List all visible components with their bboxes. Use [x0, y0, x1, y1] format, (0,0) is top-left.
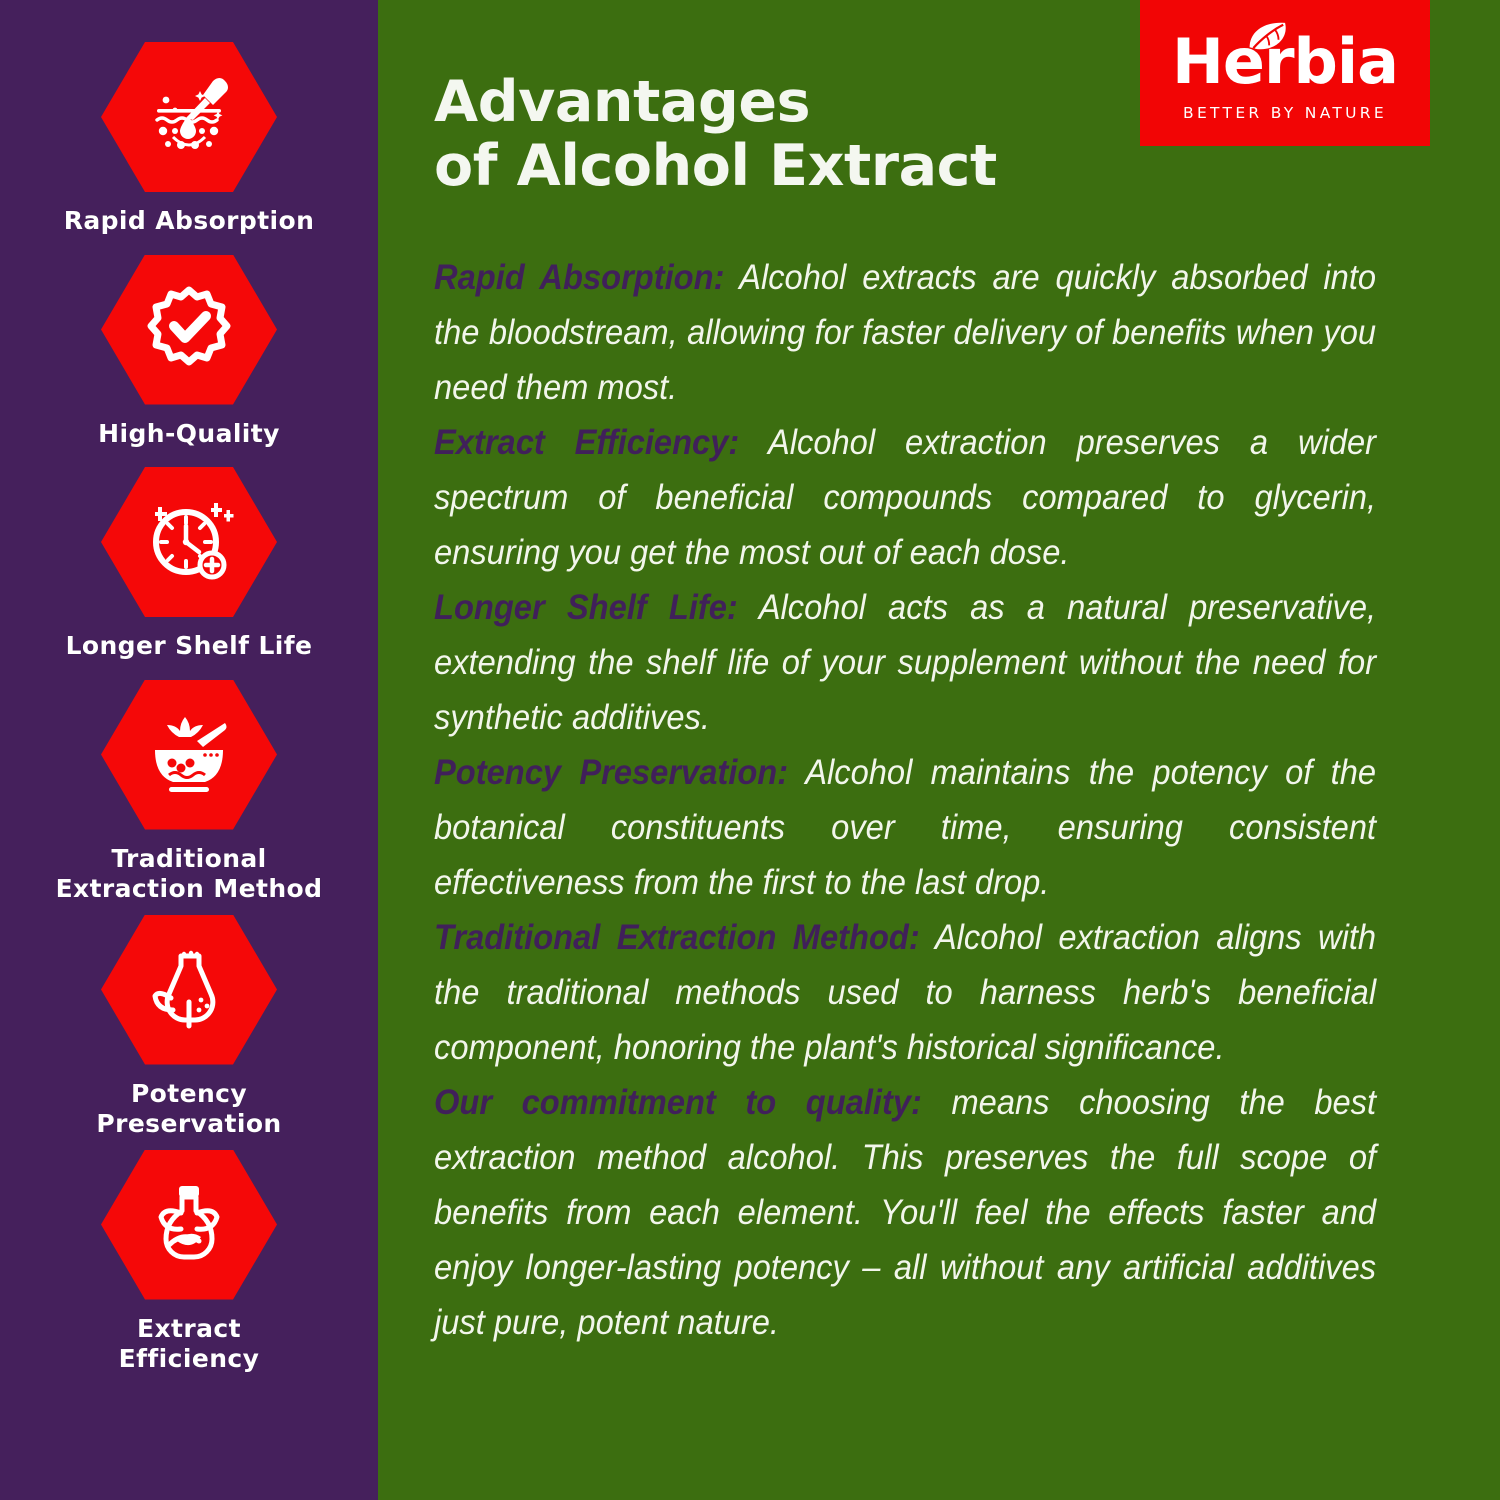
sidebar-item-label: ExtractEfficiency: [19, 1314, 359, 1375]
hexagon-badge: [101, 467, 277, 617]
paragraph-rapid-absorption: Rapid Absorption: Alcohol extracts are q…: [434, 250, 1376, 415]
hexagon-badge: [101, 680, 277, 830]
bottle-leaf-icon: [139, 1175, 239, 1275]
page-title: Advantages of Alcohol Extract: [434, 70, 997, 199]
clock-plus-icon: [139, 492, 239, 592]
paragraph-lead: Extract Efficiency:: [434, 422, 739, 462]
hexagon-badge: [101, 42, 277, 192]
paragraph-potency-preservation: Potency Preservation: Alcohol maintains …: [434, 745, 1376, 910]
mortar-pestle-herb-icon: [139, 705, 239, 805]
dropper-absorption-icon: [139, 67, 239, 167]
sidebar-item-high-quality: High-Quality: [0, 255, 378, 460]
sidebar-item-label: High-Quality: [19, 419, 359, 450]
leaf-icon: [1244, 19, 1300, 53]
sidebar-item-label: Rapid Absorption: [19, 206, 359, 237]
paragraph-longer-shelf-life: Longer Shelf Life: Alcohol acts as a nat…: [434, 580, 1376, 745]
paragraph-lead: Our commitment to quality:: [434, 1082, 922, 1122]
sidebar-item-rapid-absorption: Rapid Absorption: [0, 42, 378, 247]
brand-tagline: BETTER BY NATURE: [1183, 104, 1387, 122]
sidebar-item-extract-efficiency: ExtractEfficiency: [0, 1150, 378, 1385]
flask-leaf-icon: [139, 940, 239, 1040]
paragraph-lead: Rapid Absorption:: [434, 257, 724, 297]
paragraph-lead: Longer Shelf Life:: [434, 587, 738, 627]
page-title-line2: of Alcohol Extract: [434, 134, 997, 198]
hexagon-badge: [101, 1150, 277, 1300]
main-content-panel: Herbia BETTER BY NATURE Advantages of Al…: [378, 0, 1500, 1500]
infographic-page: Rapid Absorption High-Quality: [0, 0, 1500, 1500]
page-title-line1: Advantages: [434, 69, 810, 135]
quality-badge-check-icon: [139, 280, 239, 380]
paragraph-extract-efficiency: Extract Efficiency: Alcohol extraction p…: [434, 415, 1376, 580]
paragraph-commitment-to-quality: Our commitment to quality: means choosin…: [434, 1075, 1376, 1350]
feature-sidebar: Rapid Absorption High-Quality: [0, 0, 378, 1500]
hexagon-badge: [101, 255, 277, 405]
sidebar-item-traditional-extraction: TraditionalExtraction Method: [0, 680, 378, 915]
brand-name: Herbia: [1172, 31, 1398, 93]
sidebar-item-label: TraditionalExtraction Method: [19, 844, 359, 905]
paragraph-traditional-extraction: Traditional Extraction Method: Alcohol e…: [434, 910, 1376, 1075]
paragraph-lead: Potency Preservation:: [434, 752, 788, 792]
brand-logo: Herbia BETTER BY NATURE: [1140, 0, 1430, 146]
hexagon-badge: [101, 915, 277, 1065]
sidebar-item-label: Longer Shelf Life: [19, 631, 359, 662]
sidebar-item-potency-preservation: PotencyPreservation: [0, 915, 378, 1150]
sidebar-item-label: PotencyPreservation: [19, 1079, 359, 1140]
sidebar-item-longer-shelf-life: Longer Shelf Life: [0, 467, 378, 672]
paragraph-lead: Traditional Extraction Method:: [434, 917, 920, 957]
advantages-body: Rapid Absorption: Alcohol extracts are q…: [434, 250, 1376, 1350]
